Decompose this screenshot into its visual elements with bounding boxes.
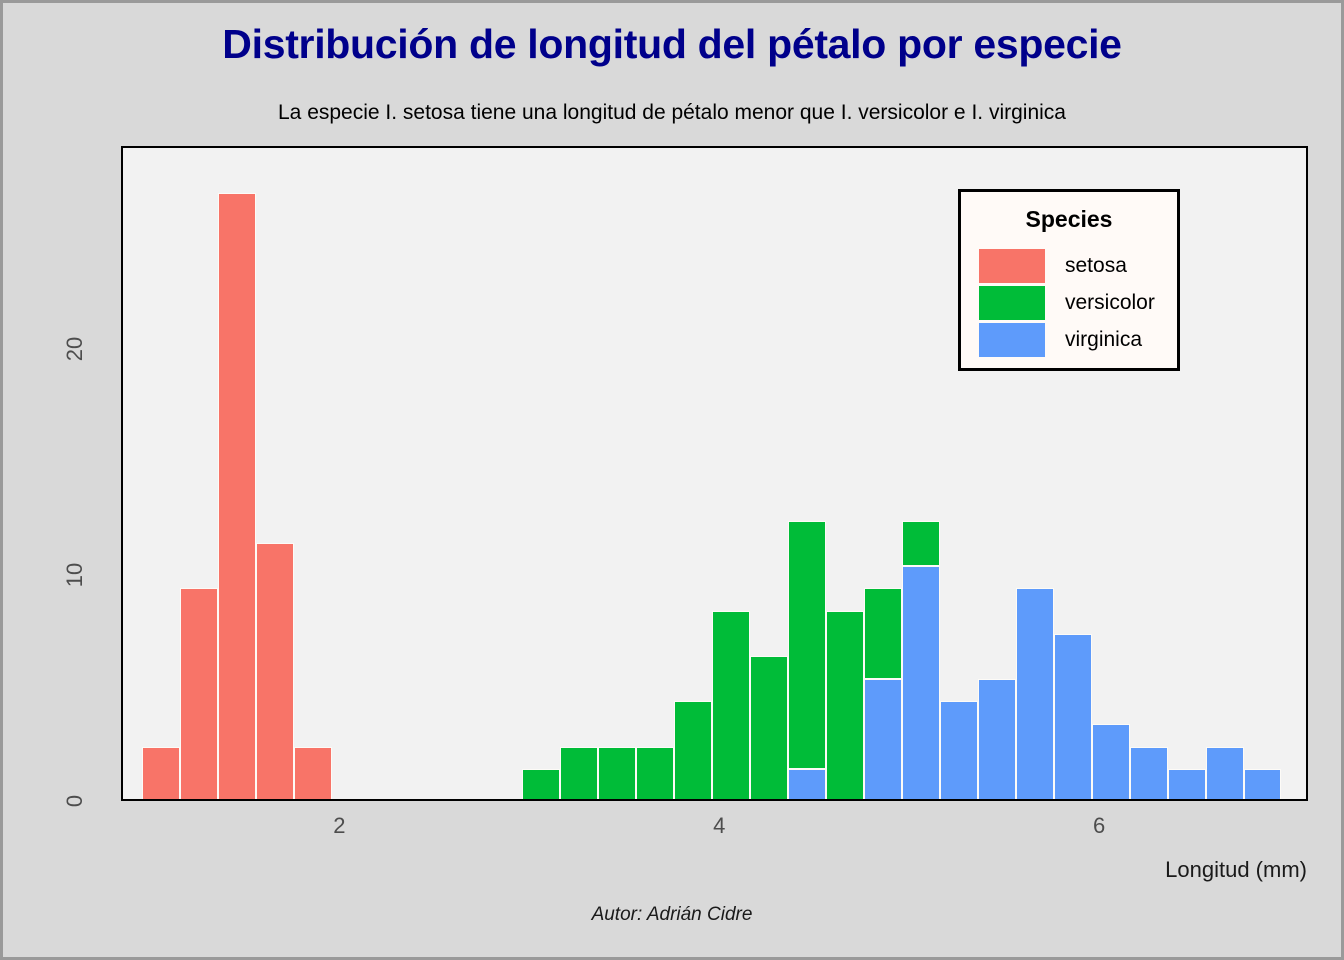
y-tick-label: 20 [62, 319, 88, 379]
x-tick-label: 6 [1093, 813, 1105, 839]
x-tick-label: 2 [333, 813, 345, 839]
histogram-bar [1092, 724, 1130, 799]
histogram-bar [636, 747, 674, 799]
histogram-bar [864, 588, 902, 678]
chart-caption: Autor: Adrián Cidre [3, 904, 1341, 926]
x-tick-label: 4 [713, 813, 725, 839]
histogram-bar [978, 679, 1016, 799]
histogram-bar [864, 679, 902, 799]
y-tick-label: 10 [62, 545, 88, 605]
histogram-bar [294, 747, 332, 799]
legend-title: Species [961, 206, 1177, 233]
legend-label-versicolor: versicolor [1065, 291, 1155, 315]
histogram-bar [1206, 747, 1244, 799]
histogram-bar [142, 747, 180, 799]
histogram-bar [826, 611, 864, 799]
histogram-bar [598, 747, 636, 799]
histogram-bar [560, 747, 598, 799]
chart-page: Distribución de longitud del pétalo por … [0, 0, 1344, 960]
histogram-bar [902, 566, 940, 799]
histogram-bar [522, 769, 560, 799]
histogram-bar [1168, 769, 1206, 799]
histogram-bar [256, 543, 294, 799]
legend-swatch-setosa [979, 249, 1045, 283]
legend: Species setosaversicolorvirginica [958, 189, 1180, 371]
histogram-bar [218, 193, 256, 799]
histogram-bar [1130, 747, 1168, 799]
chart-title: Distribución de longitud del pétalo por … [3, 21, 1341, 68]
histogram-bar [712, 611, 750, 799]
legend-label-virginica: virginica [1065, 328, 1142, 352]
histogram-bar [180, 588, 218, 799]
histogram-bar [788, 769, 826, 799]
x-axis-title: Longitud (mm) [1165, 857, 1307, 883]
legend-item-virginica[interactable]: virginica [979, 322, 1169, 358]
histogram-bar [1054, 634, 1092, 799]
histogram-bar [902, 521, 940, 566]
legend-swatch-versicolor [979, 286, 1045, 320]
legend-item-versicolor[interactable]: versicolor [979, 285, 1169, 321]
legend-item-setosa[interactable]: setosa [979, 248, 1169, 284]
histogram-bar [788, 521, 826, 769]
histogram-bar [1244, 769, 1282, 799]
histogram-bar [674, 701, 712, 799]
legend-label-setosa: setosa [1065, 254, 1127, 278]
y-tick-label: 0 [62, 771, 88, 831]
histogram-bar [750, 656, 788, 799]
legend-swatch-virginica [979, 323, 1045, 357]
chart-subtitle: La especie I. setosa tiene una longitud … [3, 101, 1341, 125]
histogram-bar [1016, 588, 1054, 799]
histogram-bar [940, 701, 978, 799]
